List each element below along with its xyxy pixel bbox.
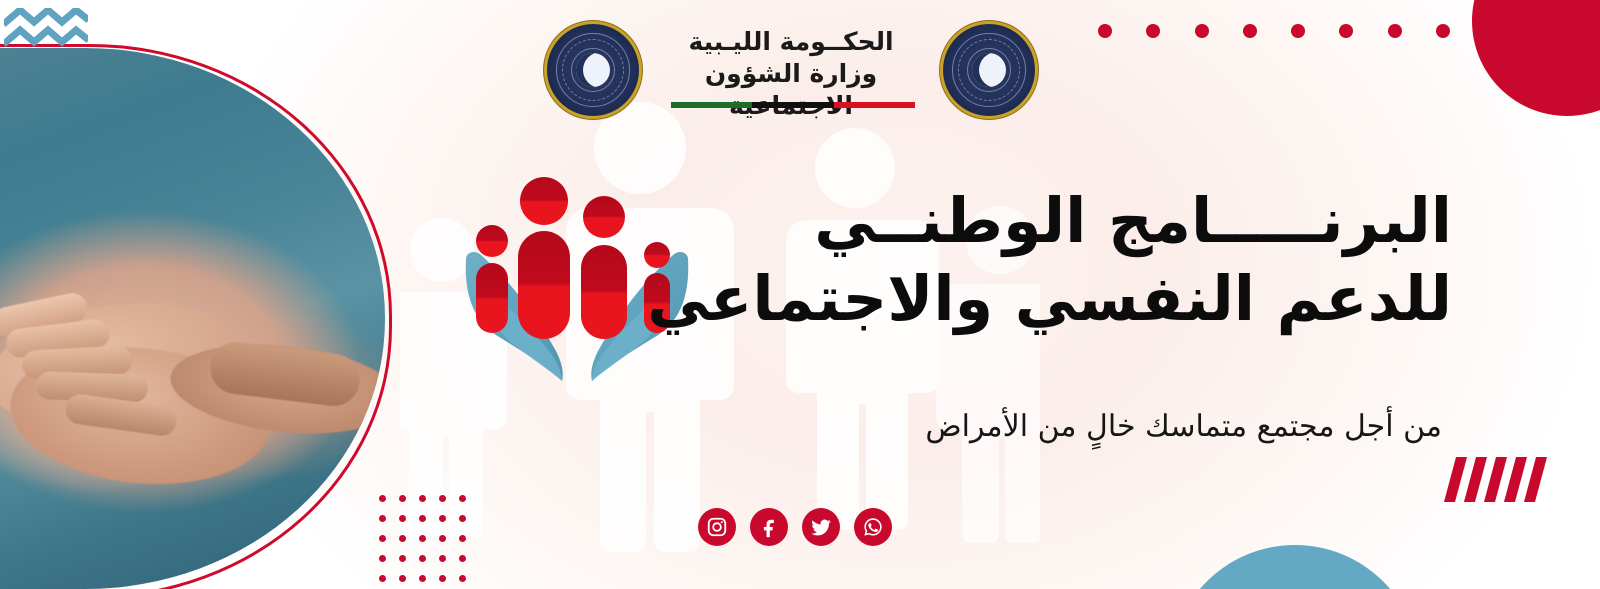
- ministry-name: وزارة الشؤون الاجتماعية: [641, 58, 941, 122]
- program-title-block: البرنـــــامج الوطنــي للدعم النفسي والا…: [692, 182, 1452, 338]
- facebook-icon[interactable]: [750, 508, 788, 546]
- government-name: الحكــومة الليـبية: [641, 26, 941, 58]
- whatsapp-icon[interactable]: [854, 508, 892, 546]
- zigzag-decoration-icon: [4, 8, 88, 52]
- social-links: [698, 508, 892, 546]
- dot-grid-decoration: [372, 488, 472, 589]
- government-header: ★ ★ الحكــومة الليـبية وزارة الشؤون الاج…: [545, 22, 1055, 126]
- libya-flag-bar: [671, 102, 915, 108]
- program-tagline: من أجل مجتمع متماسك خالٍ من الأمراض: [822, 405, 1442, 449]
- instagram-icon[interactable]: [698, 508, 736, 546]
- clasped-hands-photo: [0, 48, 385, 589]
- program-banner: ★ ★ الحكــومة الليـبية وزارة الشؤون الاج…: [0, 0, 1600, 589]
- corner-circle-decoration: [1472, 0, 1600, 116]
- program-title-line2: للدعم النفسي والاجتماعي: [692, 260, 1452, 338]
- ministry-of-social-affairs-emblem-icon: ★: [943, 24, 1035, 116]
- blue-circle-decoration: [1170, 545, 1420, 589]
- slash-bars-decoration: [1450, 457, 1570, 502]
- twitter-icon[interactable]: [802, 508, 840, 546]
- program-title-line1: البرنـــــامج الوطنــي: [692, 182, 1452, 260]
- libya-government-emblem-icon: ★: [547, 24, 639, 116]
- dot-row-decoration: [1098, 22, 1498, 40]
